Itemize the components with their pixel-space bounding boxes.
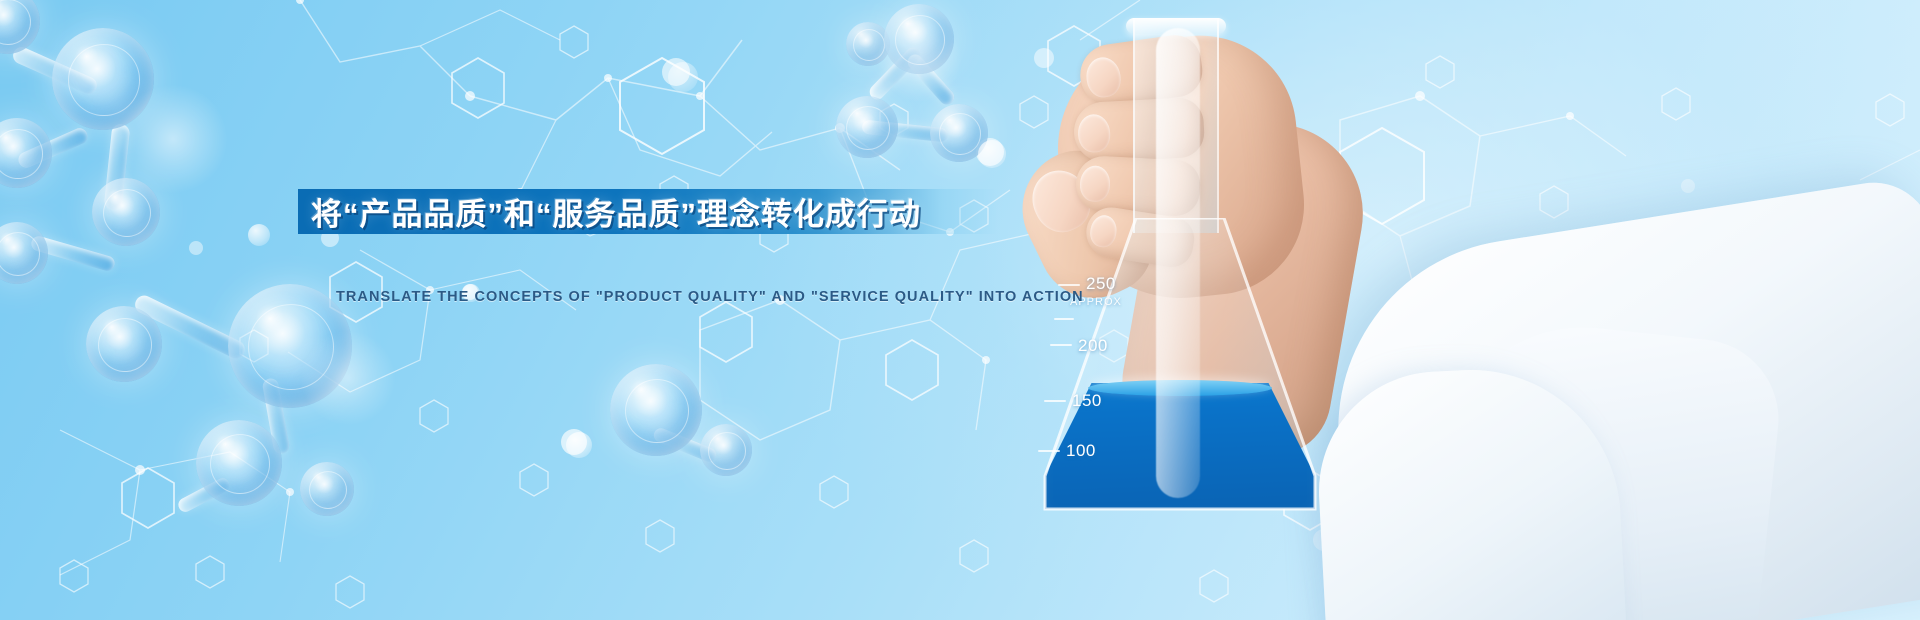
hand-holding-flask-photo: 250 APPROX 200 150 100 (990, 0, 1920, 620)
graduation-label-250: 250 (1086, 274, 1116, 294)
erlenmeyer-flask: 250 APPROX 200 150 100 (1030, 18, 1330, 538)
flask-glass-reflection (1156, 28, 1200, 498)
graduation-label-100: 100 (1066, 441, 1096, 461)
graduation-label-200: 200 (1078, 336, 1108, 356)
banner-headline: 将“产品品质”和“服务品质”理念转化成行动 (311, 188, 1011, 234)
banner-stage: 250 APPROX 200 150 100 将“产品品质”和“服务品质”理念转… (0, 0, 1920, 620)
graduation-label-150: 150 (1072, 391, 1102, 411)
banner-copy-block: 将“产品品质”和“服务品质”理念转化成行动 TRANSLATE THE CONC… (0, 0, 1060, 620)
banner-subline: TRANSLATE THE CONCEPTS OF "PRODUCT QUALI… (336, 289, 1036, 305)
graduation-tick (1058, 284, 1080, 286)
